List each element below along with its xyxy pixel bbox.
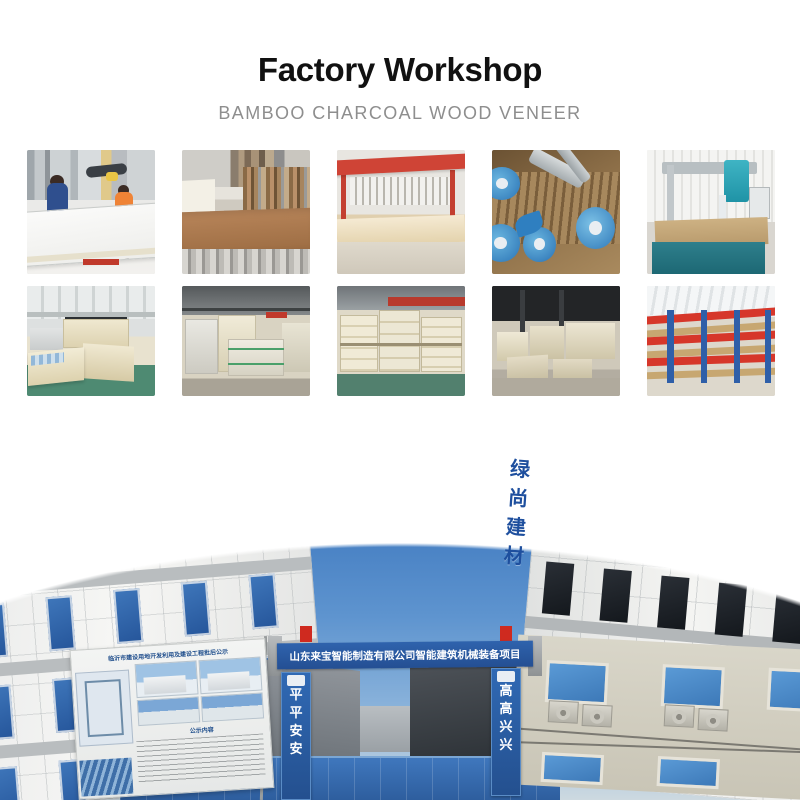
- banner-char: 高: [499, 685, 512, 698]
- thumb-image-blue-rollers: [492, 150, 620, 274]
- gallery-thumb-veneer-conveyor[interactable]: [182, 150, 310, 274]
- gate-banner: 山东来宝智能制造有限公司智能建筑机械装备项目: [277, 641, 533, 670]
- project-information-board: 临沂市建设用地开发利用及建设工程批后公示 公示内容: [70, 638, 275, 800]
- air-conditioner-unit: [582, 704, 613, 728]
- thumb-image-press-line: [27, 150, 155, 274]
- banner-char: 平: [289, 707, 302, 720]
- gallery-thumb-cnc-router[interactable]: [647, 150, 775, 274]
- banner-char: 兴: [499, 739, 512, 752]
- banner-logo-icon: [497, 671, 515, 682]
- banner-char: 安: [289, 725, 302, 738]
- air-conditioner-unit: [698, 708, 729, 732]
- page-title: Factory Workshop: [0, 52, 800, 88]
- gallery-thumb-cantilever-racking[interactable]: [647, 286, 775, 396]
- gallery-thumb-warehouse-crates[interactable]: [492, 286, 620, 396]
- banner-logo-icon: [287, 675, 305, 686]
- banner-char: 安: [289, 743, 302, 756]
- gallery-thumb-press-line[interactable]: [27, 150, 155, 274]
- board-text-block: [136, 733, 265, 783]
- sign-char: 建: [505, 512, 527, 542]
- red-flag: [300, 626, 312, 642]
- board-renderings-row-2: [132, 692, 269, 726]
- thumb-image-board-stacks: [27, 286, 155, 396]
- gallery-thumb-board-stacks[interactable]: [27, 286, 155, 396]
- board-rendering: [137, 696, 200, 726]
- thumb-image-outdoor-stacks: [337, 286, 465, 396]
- safety-banner-left: 平 平 安 安: [281, 672, 311, 800]
- board-solar-photo: [79, 758, 133, 797]
- thumb-image-warehouse-crates: [492, 286, 620, 396]
- air-conditioner-unit: [664, 704, 695, 728]
- sign-char: 尚: [507, 483, 529, 513]
- board-rendering: [198, 656, 262, 694]
- board-renderings-row-1: [130, 656, 268, 698]
- beige-building-with-ac-units: [510, 635, 800, 800]
- banner-char: 高: [499, 703, 512, 716]
- factory-photo-grid: [27, 150, 773, 396]
- board-site-plan: [75, 670, 133, 747]
- gate-banner-text: 山东来宝智能制造有限公司智能建筑机械装备项目: [289, 646, 520, 663]
- page-subtitle: BAMBOO CHARCOAL WOOD VENEER: [0, 103, 800, 124]
- board-rendering: [135, 660, 199, 698]
- air-conditioner-unit: [548, 700, 579, 724]
- gallery-thumb-outdoor-stacks[interactable]: [337, 286, 465, 396]
- thumb-image-veneer-conveyor: [182, 150, 310, 274]
- safety-banner-right: 高 高 兴 兴: [491, 668, 521, 796]
- gallery-thumb-blue-rollers[interactable]: [492, 150, 620, 274]
- thumb-image-red-gantry: [337, 150, 465, 274]
- thumb-image-cnc-router: [647, 150, 775, 274]
- board-rendering: [201, 692, 264, 722]
- gallery-thumb-wrapped-pallets[interactable]: [182, 286, 310, 396]
- thumb-image-cantilever-racking: [647, 286, 775, 396]
- red-flag: [500, 626, 512, 642]
- thumb-image-wrapped-pallets: [182, 286, 310, 396]
- banner-char: 平: [289, 689, 302, 702]
- sign-char: 材: [503, 541, 525, 571]
- banner-char: 兴: [499, 721, 512, 734]
- gallery-thumb-red-gantry[interactable]: [337, 150, 465, 274]
- page-header: Factory Workshop BAMBOO CHARCOAL WOOD VE…: [0, 0, 800, 124]
- sign-char: 绿: [509, 454, 531, 484]
